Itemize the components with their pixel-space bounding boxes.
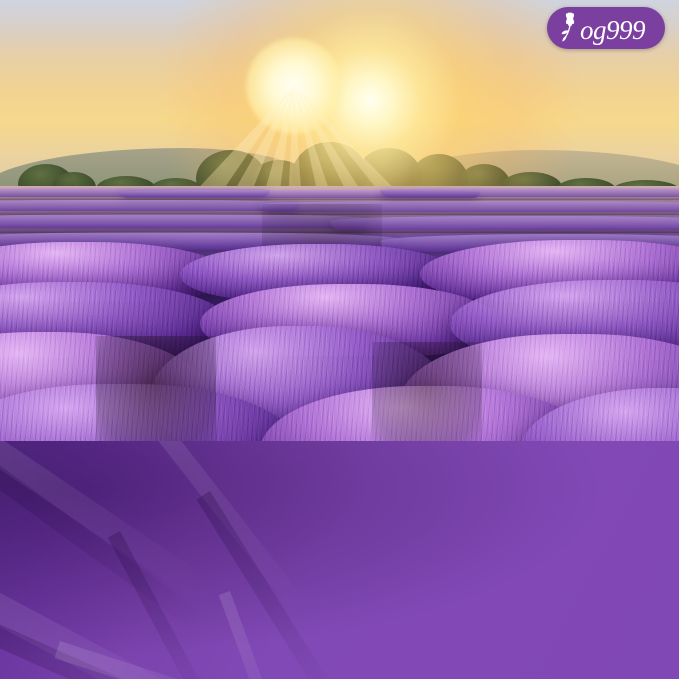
hero-lavender-field-photo: og999	[0, 0, 679, 441]
product-infographic-card: og999 HOW WE GROW LAVENDER FLOWERS	[0, 0, 679, 679]
info-panel: HOW WE GROW LAVENDER FLOWERS We grow lav…	[0, 441, 679, 679]
lavender-field	[0, 186, 679, 441]
brand-badge[interactable]: og999	[547, 7, 665, 49]
brand-wordmark: og999	[580, 15, 645, 46]
